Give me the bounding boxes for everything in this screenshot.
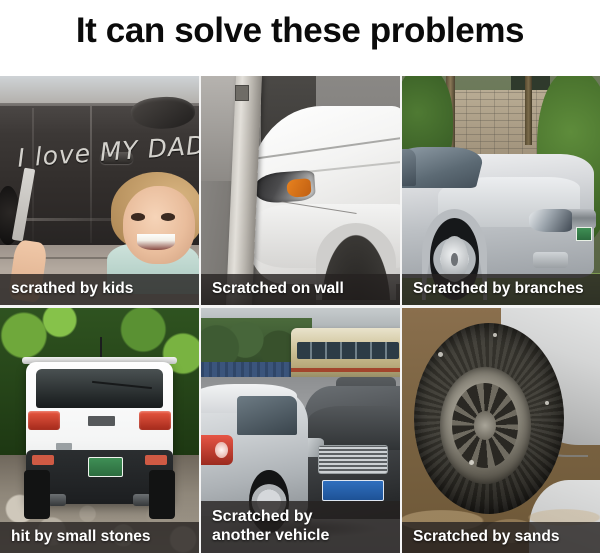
caption-branches: Scratched by branches <box>402 274 600 305</box>
dark-sedan-grille <box>318 445 388 474</box>
caption-another-vehicle: Scratched by another vehicle <box>201 501 400 553</box>
silver-hatchback-taillight <box>201 435 233 464</box>
bus-windows <box>297 342 399 359</box>
tree-trunk-right <box>525 76 532 145</box>
reflector-left <box>32 455 54 465</box>
bus-stripe <box>291 368 400 372</box>
photo-scratched-by-kids: I love MY DAD <box>0 76 199 305</box>
caption-kids: scrathed by kids <box>0 274 199 305</box>
headlight <box>529 209 573 232</box>
silver-hatchback-window <box>237 396 297 435</box>
exhaust-left <box>48 494 66 506</box>
caption-wall: Scratched on wall <box>201 274 400 305</box>
page-title: It can solve these problems <box>0 0 600 72</box>
alloy-rim <box>440 367 531 485</box>
dark-sedan-plate <box>322 480 384 502</box>
photo-hit-by-small-stones <box>0 308 199 553</box>
photo-scratched-by-branches <box>402 76 600 305</box>
taillight-left <box>28 411 60 431</box>
pillar-plate <box>235 85 249 101</box>
girl-eye-right <box>161 213 175 220</box>
photo-scratched-by-sands <box>402 308 600 553</box>
4x4-badge <box>56 443 72 450</box>
water-droplet <box>438 352 443 357</box>
problem-cell-another-vehicle[interactable]: Scratched by another vehicle <box>201 308 400 553</box>
license-plate <box>88 457 124 476</box>
problem-cell-wall[interactable]: Scratched on wall <box>201 76 400 305</box>
girl-smile <box>137 234 175 250</box>
taillight-right <box>139 411 171 431</box>
rear-tire-left <box>24 470 50 519</box>
photo-scratched-on-wall <box>201 76 400 305</box>
girl-face <box>123 186 195 264</box>
problem-cell-branches[interactable]: Scratched by branches <box>402 76 600 305</box>
rear-window <box>36 369 163 408</box>
rear-tire-right <box>149 470 175 519</box>
problem-cell-sands[interactable]: Scratched by sands <box>402 308 600 553</box>
caption-stones: hit by small stones <box>0 522 199 553</box>
background-bus <box>291 328 400 382</box>
problem-cell-stones[interactable]: hit by small stones <box>0 308 199 553</box>
caption-sands: Scratched by sands <box>402 522 600 553</box>
jeep-badge <box>88 416 116 426</box>
fog-lamp <box>533 252 569 268</box>
problem-grid: I love MY DAD scrathed by kids <box>0 76 600 553</box>
side-window <box>402 149 416 186</box>
reflector-right <box>145 455 167 465</box>
girl-eye-left <box>131 213 145 220</box>
license-plate <box>576 227 592 240</box>
water-droplet <box>545 401 549 405</box>
problem-cell-kids[interactable]: I love MY DAD scrathed by kids <box>0 76 199 305</box>
water-droplet <box>493 333 497 337</box>
turn-signal <box>286 178 311 198</box>
infographic-page: It can solve these problems I love MY DA… <box>0 0 600 553</box>
